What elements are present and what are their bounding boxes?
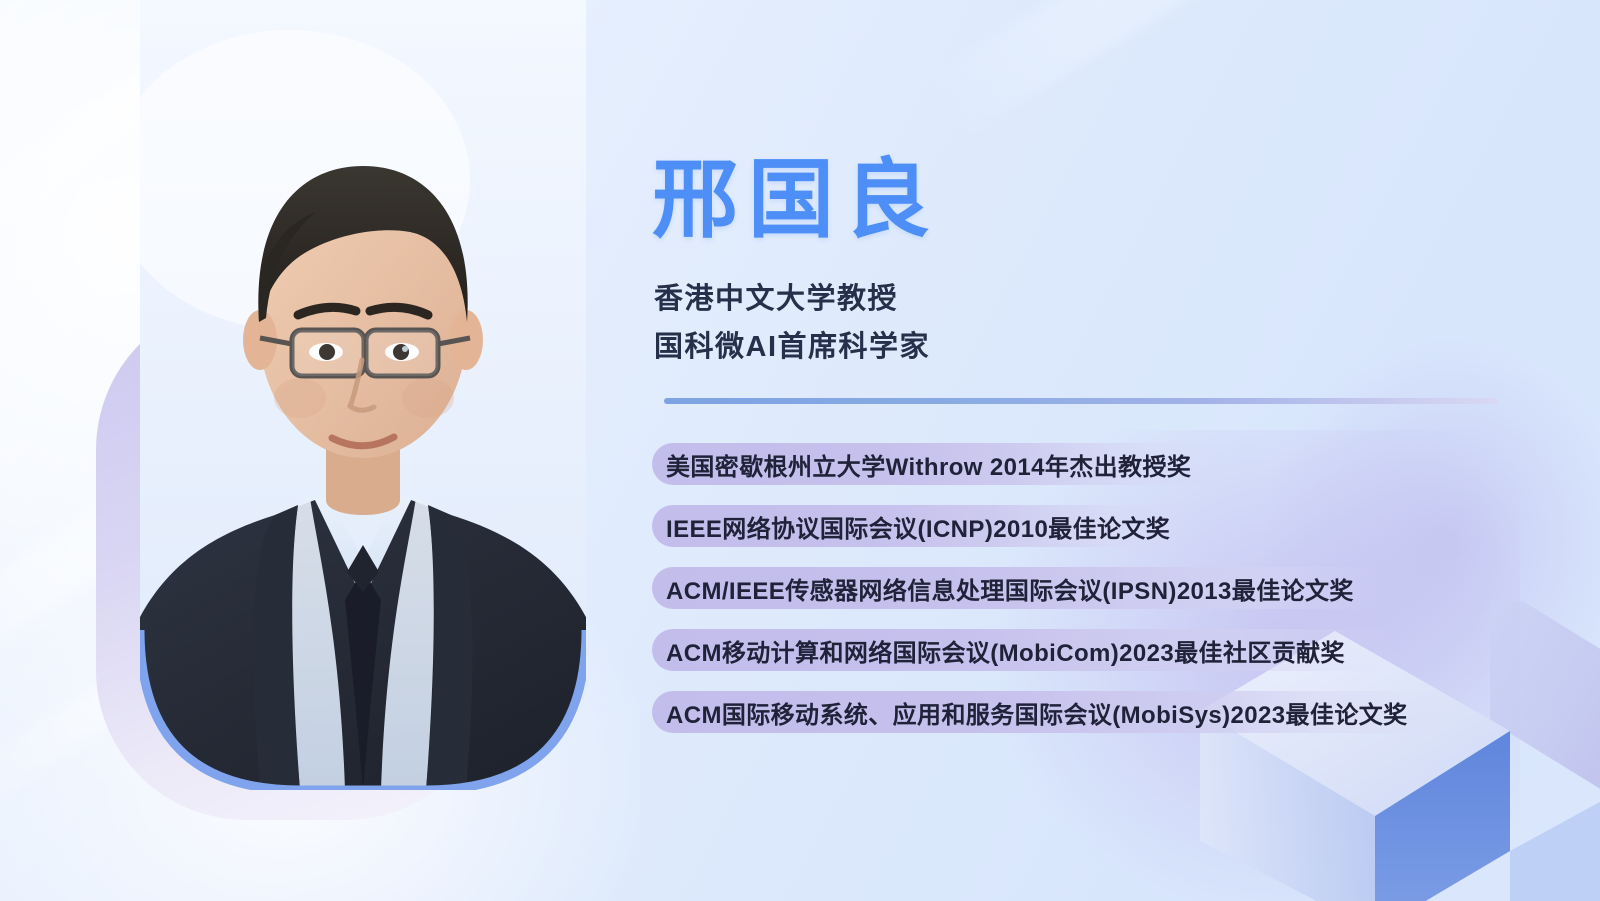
award-label: ACM移动计算和网络国际会议(MobiCom)2023最佳社区贡献奖	[652, 633, 1345, 668]
list-item: ACM移动计算和网络国际会议(MobiCom)2023最佳社区贡献奖	[652, 629, 1532, 671]
section-divider	[664, 398, 1499, 404]
list-item: IEEE网络协议国际会议(ICNP)2010最佳论文奖	[652, 505, 1532, 547]
profile-details: 邢国良 香港中文大学教授 国科微AI首席科学家 美国密歇根州立大学Withrow…	[652, 0, 1532, 901]
profile-titles: 香港中文大学教授 国科微AI首席科学家	[654, 275, 930, 371]
awards-list: 美国密歇根州立大学Withrow 2014年杰出教授奖 IEEE网络协议国际会议…	[652, 443, 1532, 753]
award-label: ACM/IEEE传感器网络信息处理国际会议(IPSN)2013最佳论文奖	[652, 571, 1354, 606]
list-item: 美国密歇根州立大学Withrow 2014年杰出教授奖	[652, 443, 1532, 485]
portrait-area	[0, 0, 640, 901]
profile-title-line-1: 香港中文大学教授	[654, 275, 930, 323]
page-title: 邢国良	[652, 157, 940, 243]
list-item: ACM国际移动系统、应用和服务国际会议(MobiSys)2023最佳论文奖	[652, 691, 1532, 733]
portrait-photo	[140, 0, 586, 790]
award-label: ACM国际移动系统、应用和服务国际会议(MobiSys)2023最佳论文奖	[652, 695, 1408, 730]
award-label: IEEE网络协议国际会议(ICNP)2010最佳论文奖	[652, 509, 1170, 544]
list-item: ACM/IEEE传感器网络信息处理国际会议(IPSN)2013最佳论文奖	[652, 567, 1532, 609]
profile-card: 邢国良 香港中文大学教授 国科微AI首席科学家 美国密歇根州立大学Withrow…	[0, 0, 1600, 901]
award-label: 美国密歇根州立大学Withrow 2014年杰出教授奖	[652, 447, 1191, 482]
profile-title-line-2: 国科微AI首席科学家	[654, 323, 930, 371]
